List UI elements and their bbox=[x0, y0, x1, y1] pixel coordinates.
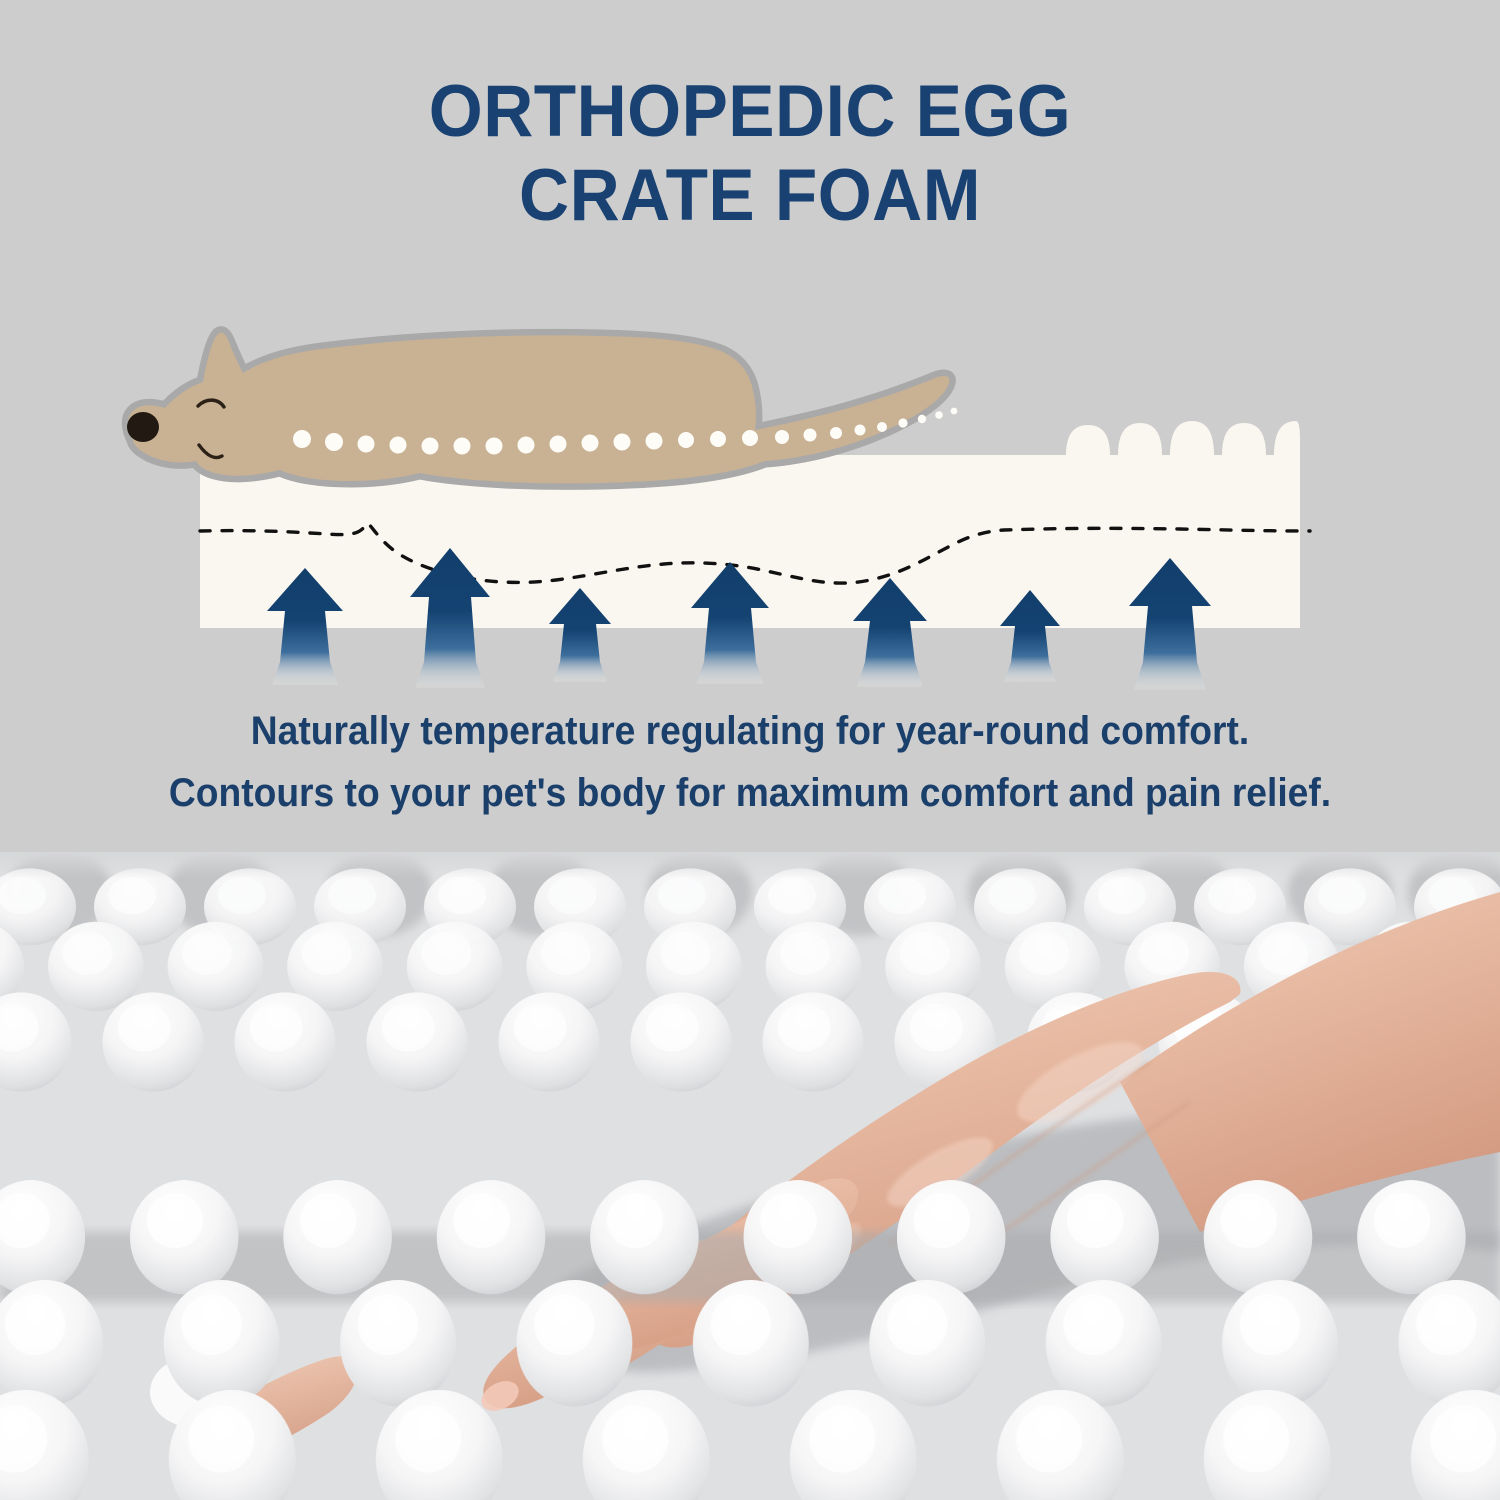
title-line-2: CRATE FOAM bbox=[38, 154, 1463, 238]
page-title: ORTHOPEDIC EGG CRATE FOAM bbox=[38, 70, 1463, 238]
caption-line-1: Naturally temperature regulating for yea… bbox=[53, 700, 1448, 762]
caption-line-2: Contours to your pet's body for maximum … bbox=[53, 762, 1448, 824]
hand-pressing-egg-crate-foam-photo bbox=[0, 852, 1500, 1500]
feature-caption: Naturally temperature regulating for yea… bbox=[53, 700, 1448, 824]
dog-nose-icon bbox=[127, 412, 159, 442]
foam-support-diagram bbox=[0, 290, 1500, 690]
product-feature-graphic: ORTHOPEDIC EGG CRATE FOAM bbox=[0, 0, 1500, 1500]
title-line-1: ORTHOPEDIC EGG bbox=[38, 70, 1463, 154]
